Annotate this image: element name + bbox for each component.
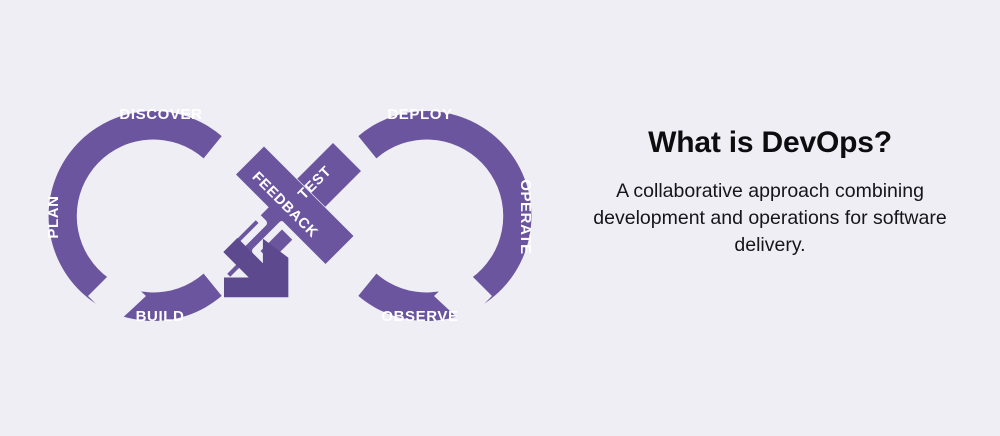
left-ring-arc (49, 111, 222, 321)
segment-label-operate: OPERATE (517, 179, 534, 255)
page-title: What is DevOps? (560, 126, 980, 160)
devops-infinity-diagram: DISCOVER PLAN BUILD DEPLOY OPERATE OBSER… (20, 78, 560, 358)
page-description: A collaborative approach combining devel… (560, 178, 980, 259)
segment-label-observe: OBSERVE (381, 308, 458, 325)
devops-infographic: DISCOVER PLAN BUILD DEPLOY OPERATE OBSER… (0, 0, 1000, 436)
operations-loop (358, 111, 531, 321)
segment-label-discover: DISCOVER (119, 106, 202, 123)
segment-label-deploy: DEPLOY (387, 106, 452, 123)
segment-label-build: BUILD (136, 308, 185, 325)
segment-label-plan: PLAN (45, 195, 62, 238)
development-loop (49, 111, 222, 321)
right-ring-arc (358, 111, 531, 321)
text-panel: What is DevOps? A collaborative approach… (560, 126, 980, 259)
